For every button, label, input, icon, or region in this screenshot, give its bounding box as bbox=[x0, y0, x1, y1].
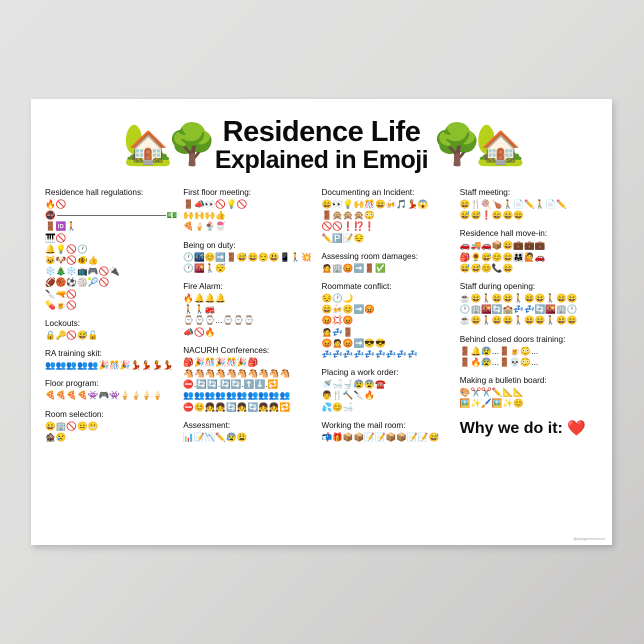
emoji-row: 🔒🔑🚫😅🔓 bbox=[45, 330, 177, 341]
emoji-row: 😡💢😡 bbox=[322, 315, 454, 326]
entry-block: Roommate conflict:😔🕐🌙😄🍻😊➡️😡😡💢😡🙍💤🚪😡🙍😡➡️😎😎… bbox=[322, 281, 454, 360]
emoji-row: 🚗🚚🚗📦😄💼💼💼 bbox=[460, 240, 592, 251]
column-2: First floor meeting:🚪📣👀🚫💡🚫🙌🙌🙌👍🍕🍦🍨🍧Being … bbox=[183, 187, 321, 527]
poster-content: 🏡🌳 Residence Life Explained in Emoji 🌳🏡 … bbox=[31, 99, 612, 545]
emoji-row: ⛔😊👧👧🔄👧🔄👧👧🔁 bbox=[183, 402, 315, 413]
emoji-row: ❄️🎄❄️📺🎮🚫🔌 bbox=[45, 266, 177, 277]
emoji-row: 🕐🌇🚶😴 bbox=[183, 263, 315, 274]
emoji-row: 🔪🔫🚫 bbox=[45, 289, 177, 300]
heart-icon: ❤️ bbox=[567, 420, 586, 437]
emoji-row: 🐴🐴🐴🐴🐴🐴🐴🐴🐴🐴 bbox=[183, 368, 315, 379]
title-line-1: Residence Life bbox=[215, 117, 428, 147]
entry-block: Fire Alarm:🔥🔔🔔🔔🚶🚶🚒⌚⌚⌚...⌚⌚⌚📣🚫🔥 bbox=[183, 281, 315, 338]
title-line-2: Explained in Emoji bbox=[215, 147, 428, 174]
money-icon: 💵 bbox=[167, 210, 178, 221]
screenshot-root: 🏡🌳 Residence Life Explained in Emoji 🌳🏡 … bbox=[0, 0, 644, 644]
emoji-row: 🚪📣👀🚫💡🚫 bbox=[183, 199, 315, 210]
emoji-row: 🕐🏢🌇🔄🏫💤💤🔄🌇🏢🕐 bbox=[460, 304, 592, 315]
emoji-row: 😄🍻😊➡️😡 bbox=[322, 304, 454, 315]
column-1: Residence hall regulations:🔥🚫🚭💵🚪🆔🚶🎹🚫🔔💡🚫🕐… bbox=[45, 187, 183, 527]
emoji-row: 🚪🔥😰...🚪💀😳... bbox=[460, 357, 592, 368]
emoji-row: ☕😄🚶😄😄🚶😄😄🚶😄😄 bbox=[460, 293, 592, 304]
entry-block: Behind closed doors training:🚪🔔😰...🚪🍺😳..… bbox=[460, 334, 592, 368]
entry-block: Assessing room damages:🙍🏢😡➡️🚪✅ bbox=[322, 251, 454, 274]
closing-statement: Why we do it: ❤️ bbox=[460, 419, 592, 439]
emoji-row: 🎨✂️✂️✏️📐📐 bbox=[460, 387, 592, 398]
emoji-row: 😔🕐🌙 bbox=[322, 293, 454, 304]
entry-heading: First floor meeting: bbox=[183, 187, 315, 198]
emoji-row: 🚪🔔😰...🚪🍺😳... bbox=[460, 346, 592, 357]
page-title: Residence Life Explained in Emoji bbox=[215, 117, 428, 174]
emoji-row: 🔔💡🚫🕐 bbox=[45, 244, 177, 255]
entry-block: Room selection:😀🏢🚫😐😬🏚️😢 bbox=[45, 409, 177, 443]
emoji-row: 😅😅😊📞😄 bbox=[460, 263, 592, 274]
emoji-row: ⛔.🔄🔄.🔄🔄.⬆️⬇️.🔁 bbox=[183, 379, 315, 390]
emoji-row: 💊🍺🚫 bbox=[45, 300, 177, 311]
entry-heading: Behind closed doors training: bbox=[460, 334, 592, 345]
entry-block: Residence hall move-in:🚗🚚🚗📦😄💼💼💼🎒🌻😅😊😄👨‍👩‍… bbox=[460, 228, 592, 274]
entry-block: Documenting an Incident:😄👀💡🙌🎊😄🍻🎵💃😱🚪🙊🙊🙊😳🚫… bbox=[322, 187, 454, 244]
entry-heading: Floor program: bbox=[45, 378, 177, 389]
entry-block: RA training skit:👥👥👥👥👥🎉🎊🎉💃💃💃💃 bbox=[45, 348, 177, 371]
poster-title-band: 🏡🌳 Residence Life Explained in Emoji 🌳🏡 bbox=[39, 109, 604, 181]
emoji-row: 🚪🆔🚶 bbox=[45, 221, 177, 232]
emoji-row: 🚫🚫❗️⁉️❗️ bbox=[322, 221, 454, 232]
credit-line: @paulgreencartoon bbox=[574, 537, 605, 541]
emoji-row: ✏️🅿️📝😔 bbox=[322, 233, 454, 244]
entry-heading: Assessment: bbox=[183, 420, 315, 431]
emoji-row: 🏈🏀⚽🏐🎾🚫 bbox=[45, 277, 177, 288]
entry-block: Lockouts:🔒🔑🚫😅🔓 bbox=[45, 318, 177, 341]
entry-block: Being on duty:🕐🌃😊➡️🚪😅😄😌😃📱🚶💥🕐🌇🚶😴 bbox=[183, 240, 315, 274]
entry-block: Staff during opening:☕😄🚶😄😄🚶😄😄🚶😄😄🕐🏢🌇🔄🏫💤💤🔄… bbox=[460, 281, 592, 327]
emoji-row: 🚿🛁🚽😰😨☎️ bbox=[322, 379, 454, 390]
entry-heading: Making a bulletin board: bbox=[460, 375, 592, 386]
emoji-row: 👥👥👥👥👥👥👥👥👥👥 bbox=[183, 390, 315, 401]
emoji-row: 🔥🚫 bbox=[45, 199, 177, 210]
column-4: Staff meeting:😄🍴🍭🍗🚶📄✏️🚶📄✏️😅😅❗️😄😄😄Residen… bbox=[460, 187, 598, 527]
entry-heading: NACURH Conferences: bbox=[183, 345, 315, 356]
emoji-row: 🙍💤🚪 bbox=[322, 327, 454, 338]
entry-heading: Being on duty: bbox=[183, 240, 315, 251]
poster-sheet: 🏡🌳 Residence Life Explained in Emoji 🌳🏡 … bbox=[31, 99, 612, 545]
entry-heading: Assessing room damages: bbox=[322, 251, 454, 262]
emoji-row: 🙌🙌🙌👍 bbox=[183, 210, 315, 221]
emoji-row: 🍕🍕🍕🍕👾🎮👾🍦🍦🍦🍦 bbox=[45, 390, 177, 401]
emoji-row: 📬🎁📦📦📝📝📦📦📝📝😅 bbox=[322, 432, 454, 443]
entry-heading: Residence hall move-in: bbox=[460, 228, 592, 239]
emoji-row: 🕐🌃😊➡️🚪😅😄😌😃📱🚶💥 bbox=[183, 252, 315, 263]
entry-block: Floor program:🍕🍕🍕🍕👾🎮👾🍦🍦🍦🍦 bbox=[45, 378, 177, 401]
emoji-row: 🖼️✨🖌️🖼️✨😊 bbox=[460, 398, 592, 409]
entry-heading: Staff meeting: bbox=[460, 187, 592, 198]
poster-columns: Residence hall regulations:🔥🚫🚭💵🚪🆔🚶🎹🚫🔔💡🚫🕐… bbox=[39, 187, 604, 527]
entry-heading: Documenting an Incident: bbox=[322, 187, 454, 198]
emoji-row: ⌚⌚⌚...⌚⌚⌚ bbox=[183, 315, 315, 326]
emoji-row: 👨🍴🔨🔪🔥 bbox=[322, 390, 454, 401]
entry-heading: Placing a work order: bbox=[322, 367, 454, 378]
entry-heading: Staff during opening: bbox=[460, 281, 592, 292]
emoji-row: 🏚️😢 bbox=[45, 432, 177, 443]
emoji-row: 😀🏢🚫😐😬 bbox=[45, 421, 177, 432]
entry-block: Placing a work order:🚿🛁🚽😰😨☎️👨🍴🔨🔪🔥💦😊🛁 bbox=[322, 367, 454, 413]
entry-block: Staff meeting:😄🍴🍭🍗🚶📄✏️🚶📄✏️😅😅❗️😄😄😄 bbox=[460, 187, 592, 221]
entry-heading: Fire Alarm: bbox=[183, 281, 315, 292]
emoji-row: 🎹🚫 bbox=[45, 233, 177, 244]
emoji-row: 😅😅❗️😄😄😄 bbox=[460, 210, 592, 221]
house-tree-icon-left: 🏡🌳 bbox=[123, 125, 211, 165]
closing-label: Why we do it: bbox=[460, 420, 563, 437]
entry-heading: Residence hall regulations: bbox=[45, 187, 177, 198]
entry-heading: RA training skit: bbox=[45, 348, 177, 359]
emoji-row: 💤💤💤💤💤💤💤💤💤 bbox=[322, 349, 454, 360]
entry-heading: Roommate conflict: bbox=[322, 281, 454, 292]
entry-heading: Room selection: bbox=[45, 409, 177, 420]
entry-heading: Working the mail room: bbox=[322, 420, 454, 431]
no-smoking-icon: 🚭 bbox=[45, 210, 56, 221]
emoji-row: 🐱🐶🚫🐠👍 bbox=[45, 255, 177, 266]
emoji-row: 🚶🚶🚒 bbox=[183, 304, 315, 315]
emoji-row: 😄🍴🍭🍗🚶📄✏️🚶📄✏️ bbox=[460, 199, 592, 210]
emoji-row: 💦😊🛁 bbox=[322, 402, 454, 413]
entry-block: Residence hall regulations:🔥🚫🚭💵🚪🆔🚶🎹🚫🔔💡🚫🕐… bbox=[45, 187, 177, 311]
entry-block: First floor meeting:🚪📣👀🚫💡🚫🙌🙌🙌👍🍕🍦🍨🍧 bbox=[183, 187, 315, 233]
emoji-row: 🔥🔔🔔🔔 bbox=[183, 293, 315, 304]
entry-heading: Lockouts: bbox=[45, 318, 177, 329]
entry-block: NACURH Conferences:🎒🎉🎊🎉🎊🎉🎒🐴🐴🐴🐴🐴🐴🐴🐴🐴🐴⛔.🔄🔄… bbox=[183, 345, 315, 413]
emoji-row: 🎒🎉🎊🎉🎊🎉🎒 bbox=[183, 357, 315, 368]
emoji-row: 📣🚫🔥 bbox=[183, 327, 315, 338]
emoji-row: 🚪🙊🙊🙊😳 bbox=[322, 210, 454, 221]
entry-block: Making a bulletin board:🎨✂️✂️✏️📐📐🖼️✨🖌️🖼️… bbox=[460, 375, 592, 409]
horizontal-rule bbox=[57, 215, 166, 216]
entry-block: Working the mail room:📬🎁📦📦📝📝📦📦📝📝😅 bbox=[322, 420, 454, 443]
emoji-row-with-rule: 🚭💵 bbox=[45, 210, 177, 221]
house-tree-icon-right: 🌳🏡 bbox=[432, 125, 520, 165]
emoji-row: 🙍🏢😡➡️🚪✅ bbox=[322, 263, 454, 274]
emoji-row: 🎒🌻😅😊😄👨‍👩‍👧🙋🚗 bbox=[460, 252, 592, 263]
emoji-row: 🍕🍦🍨🍧 bbox=[183, 221, 315, 232]
emoji-row: 😄👀💡🙌🎊😄🍻🎵💃😱 bbox=[322, 199, 454, 210]
column-3: Documenting an Incident:😄👀💡🙌🎊😄🍻🎵💃😱🚪🙊🙊🙊😳🚫… bbox=[322, 187, 460, 527]
emoji-row: 📊📝📉✏️😰😩 bbox=[183, 432, 315, 443]
entry-block: Assessment:📊📝📉✏️😰😩 bbox=[183, 420, 315, 443]
emoji-row: ☕😄🚶😄😄🚶😄😄🚶😄😄 bbox=[460, 315, 592, 326]
emoji-row: 😡🙍😡➡️😎😎 bbox=[322, 338, 454, 349]
emoji-row: 👥👥👥👥👥🎉🎊🎉💃💃💃💃 bbox=[45, 360, 177, 371]
